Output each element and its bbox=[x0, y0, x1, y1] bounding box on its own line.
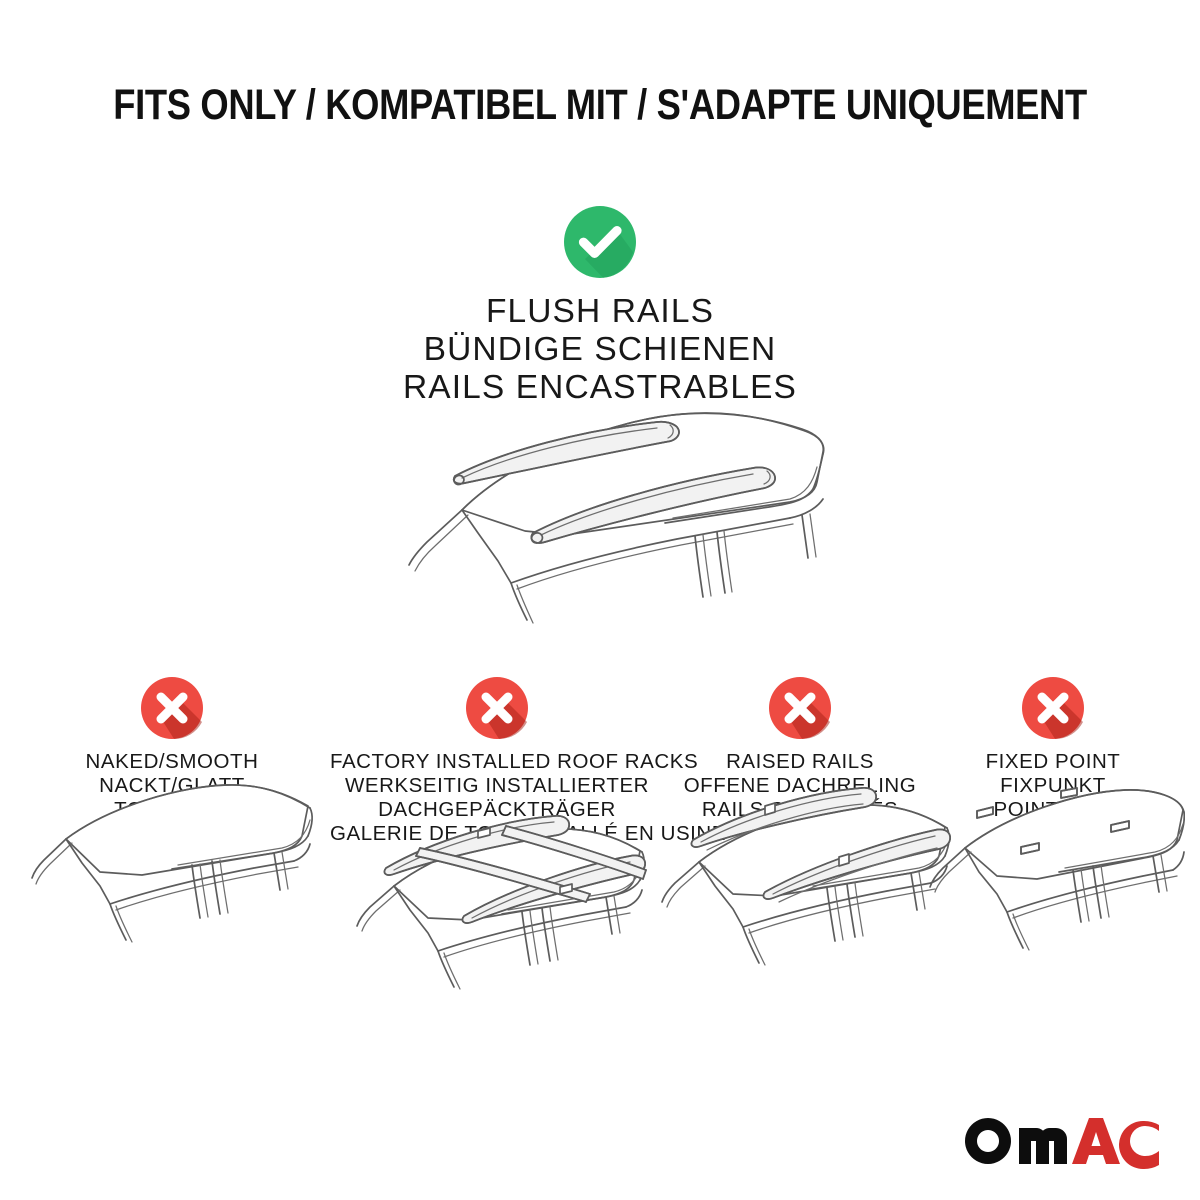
x-circle-icon bbox=[768, 676, 832, 740]
label-line-en: FACTORY INSTALLED ROOF RACKS bbox=[330, 750, 664, 774]
page-header: FITS ONLY / KOMPATIBEL MIT / S'ADAPTE UN… bbox=[0, 84, 1200, 127]
incompatible-item-factory-rack: FACTORY INSTALLED ROOF RACKS WERKSEITIG … bbox=[330, 676, 664, 846]
car-roof-flush-rails-illustration bbox=[365, 405, 835, 650]
x-circle-icon bbox=[1021, 676, 1085, 740]
incompatible-item-raised-rails: RAISED RAILS OFFENE DACHRELING RAILS SUR… bbox=[662, 676, 938, 822]
x-circle-icon bbox=[465, 676, 529, 740]
label-line-en: NAKED/SMOOTH bbox=[22, 750, 322, 774]
label-line-de-1: WERKSEITIG INSTALLIERTER bbox=[330, 774, 664, 798]
incompatible-item-fixed-point: FIXED POINT FIXPUNKT POINT FIXE bbox=[940, 676, 1166, 822]
car-roof-fixed-point-illustration bbox=[921, 776, 1185, 972]
label-line-en: RAISED RAILS bbox=[662, 750, 938, 774]
x-circle-icon bbox=[140, 676, 204, 740]
car-roof-naked-illustration bbox=[22, 776, 322, 966]
omac-logo bbox=[962, 1112, 1162, 1170]
compatible-label-line-de: BÜNDIGE SCHIENEN bbox=[0, 331, 1200, 369]
incompatible-section: NAKED/SMOOTH NACKT/GLATT TOIT/LISSE bbox=[0, 676, 1200, 1096]
label-line-en: FIXED POINT bbox=[940, 750, 1166, 774]
compatible-label-line-fr: RAILS ENCASTRABLES bbox=[0, 369, 1200, 407]
compatible-label-line-en: FLUSH RAILS bbox=[0, 293, 1200, 331]
compatible-label: FLUSH RAILS BÜNDIGE SCHIENEN RAILS ENCAS… bbox=[0, 293, 1200, 407]
incompatible-item-naked: NAKED/SMOOTH NACKT/GLATT TOIT/LISSE bbox=[22, 676, 322, 822]
compatible-section: FLUSH RAILS BÜNDIGE SCHIENEN RAILS ENCAS… bbox=[0, 205, 1200, 407]
page-title: FITS ONLY / KOMPATIBEL MIT / S'ADAPTE UN… bbox=[113, 84, 1087, 127]
check-circle-icon bbox=[563, 205, 637, 279]
car-roof-factory-rack-illustration bbox=[338, 802, 656, 998]
car-roof-raised-rails-illustration bbox=[643, 778, 957, 974]
